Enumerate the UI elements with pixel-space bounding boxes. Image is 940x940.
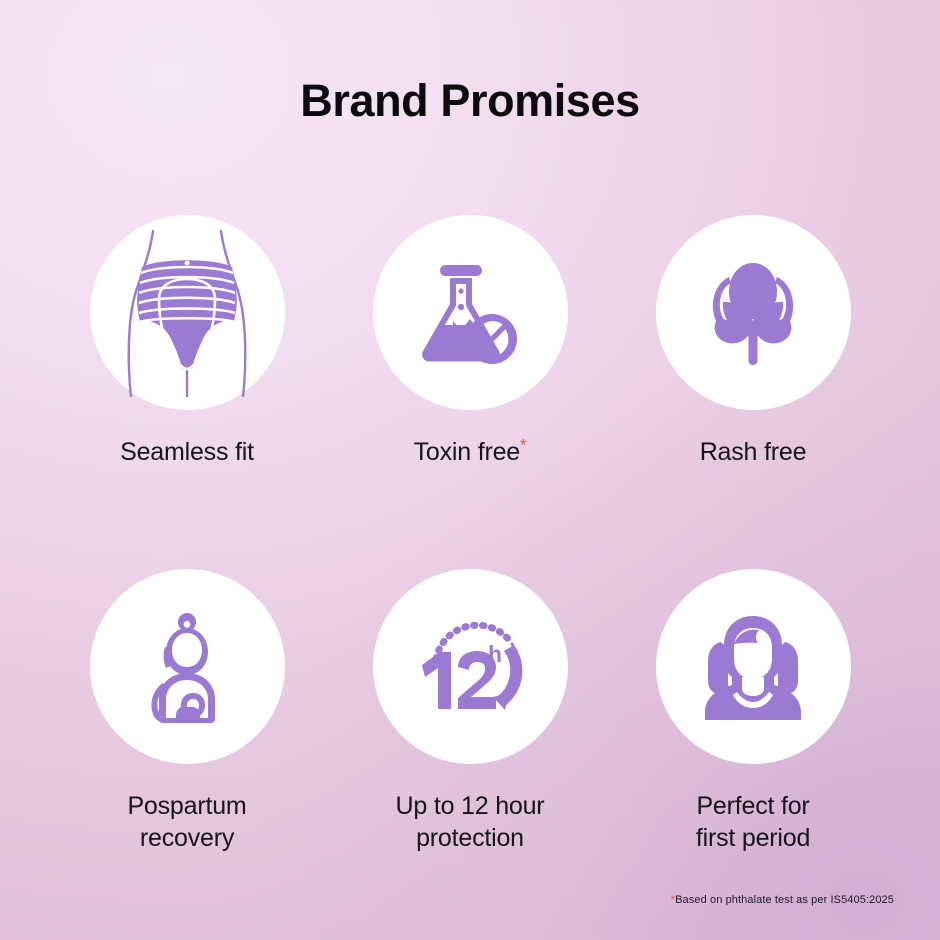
promise-icon-circle <box>656 215 851 410</box>
flask-no-toxin-icon <box>412 255 528 371</box>
footnote: *Based on phthalate test as per IS5405:2… <box>671 893 894 907</box>
cotton-flower-icon <box>695 255 811 371</box>
promise-icon-circle: h <box>373 569 568 764</box>
twelve-hour-clock-icon: h <box>410 611 530 723</box>
footnote-text: Based on phthalate test as per IS5405:20… <box>675 894 894 906</box>
promise-toxin-free[interactable]: Toxin free* <box>373 215 568 468</box>
clock-hour-unit: h <box>488 641 502 667</box>
promises-grid: Seamless fit <box>0 215 940 854</box>
promise-label: Perfect for first period <box>696 790 810 854</box>
promises-row-top: Seamless fit <box>0 215 940 468</box>
girl-pigtails-icon <box>697 614 809 720</box>
promise-postpartum-recovery[interactable]: Pospartum recovery <box>90 569 285 854</box>
page-title: Brand Promises <box>0 74 940 128</box>
promise-label: Seamless fit <box>120 436 254 468</box>
promise-first-period[interactable]: Perfect for first period <box>656 569 851 854</box>
promises-banner: Brand Promises <box>0 0 940 940</box>
promise-label: Toxin free* <box>414 436 527 468</box>
promise-label: Up to 12 hour protection <box>396 790 545 854</box>
promise-label: Pospartum recovery <box>127 790 246 854</box>
promise-icon-circle <box>90 569 285 764</box>
promises-row-bottom: Pospartum recovery <box>0 569 940 854</box>
promise-rash-free[interactable]: Rash free <box>656 215 851 468</box>
asterisk-marker: * <box>520 436 526 455</box>
mother-baby-icon <box>135 611 239 723</box>
promise-12-hour-protection[interactable]: h Up to 12 hour protection <box>373 569 568 854</box>
promise-icon-circle <box>373 215 568 410</box>
promise-seamless-fit[interactable]: Seamless fit <box>90 215 285 468</box>
promise-icon-circle <box>90 215 285 410</box>
promise-icon-circle <box>656 569 851 764</box>
promise-label: Rash free <box>700 436 807 468</box>
underwear-icon <box>112 229 262 397</box>
